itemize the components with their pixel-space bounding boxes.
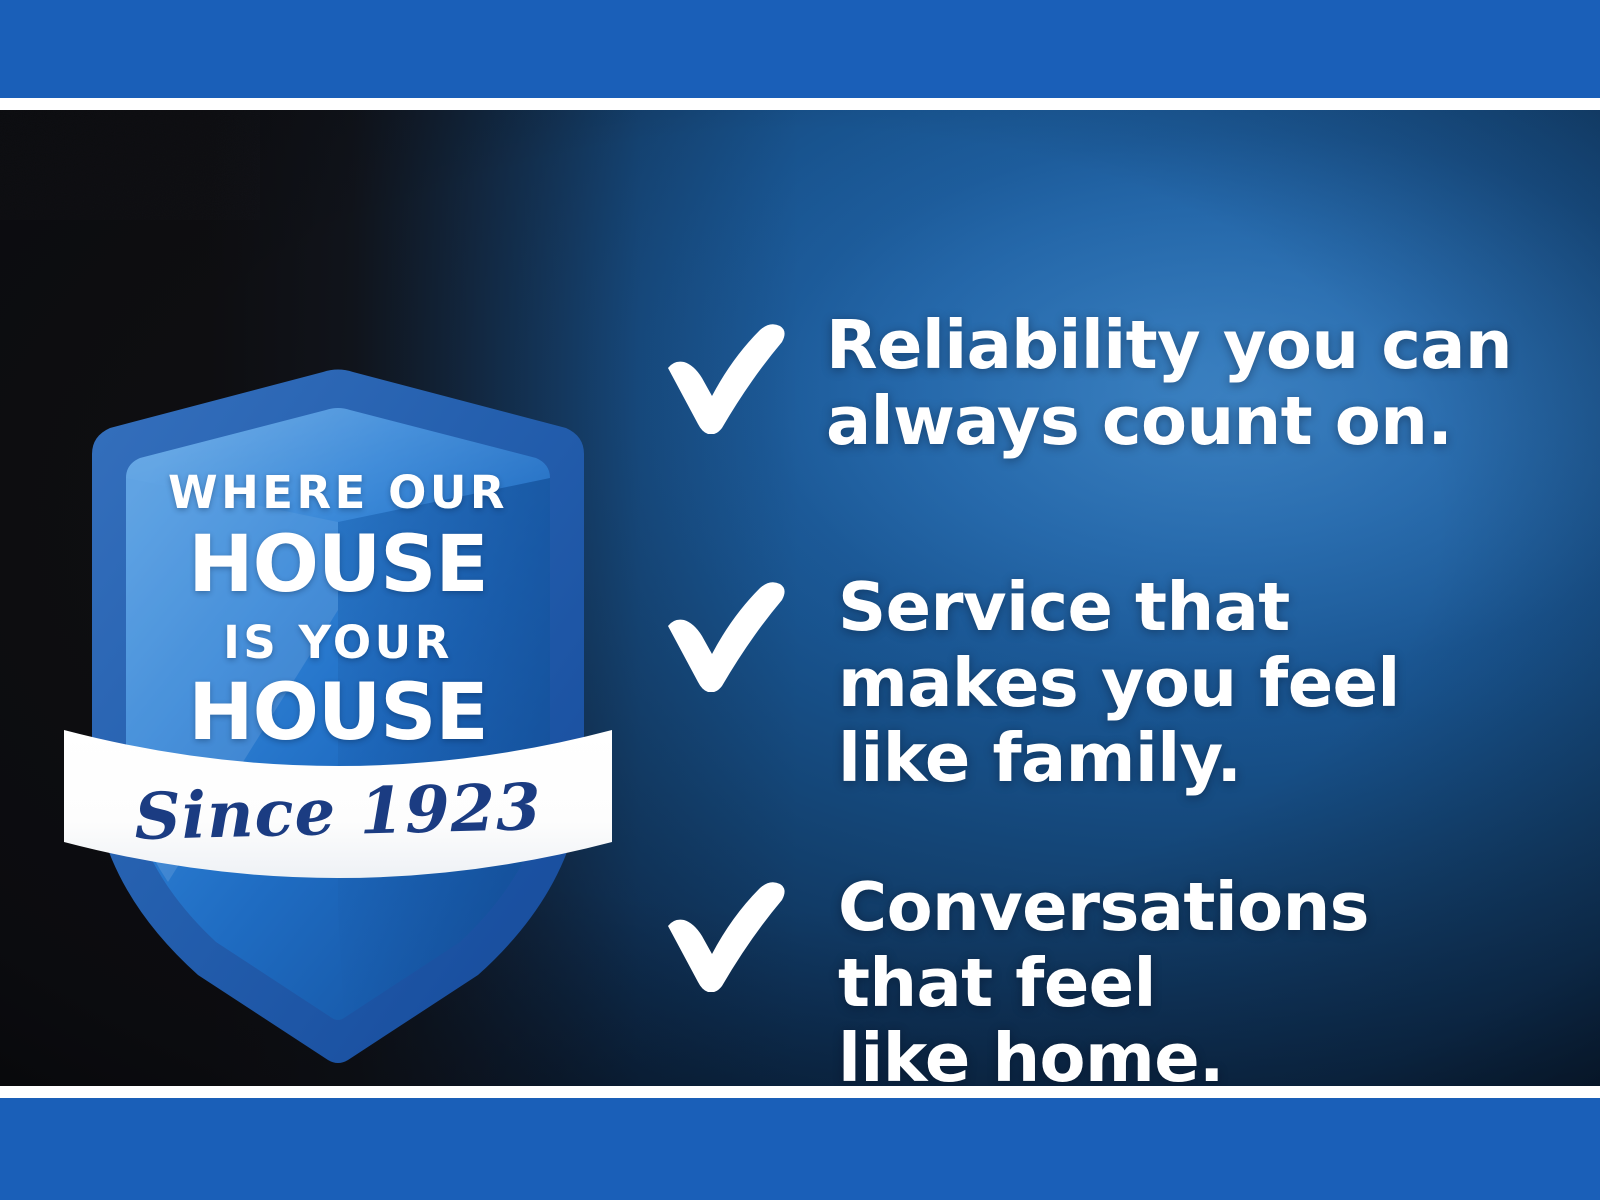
benefits-checklist: Reliability you can always count on. Ser… bbox=[660, 220, 1600, 1086]
shield-badge: WHERE OUR HOUSE IS YOUR HOUSE Since 1923 bbox=[48, 350, 628, 1070]
checklist-item: Reliability you can always count on. bbox=[660, 312, 1512, 459]
checklist-item: Service that makes you feel like family. bbox=[660, 570, 1400, 797]
checkmark-icon bbox=[660, 316, 792, 434]
checkmark-icon bbox=[660, 874, 792, 992]
checkmark-icon bbox=[660, 574, 792, 692]
checklist-item-text: Service that makes you feel like family. bbox=[838, 570, 1400, 797]
top-accent-bar bbox=[0, 0, 1600, 98]
checklist-item-text: Reliability you can always count on. bbox=[826, 308, 1512, 459]
promotional-graphic: WHERE OUR HOUSE IS YOUR HOUSE Since 1923… bbox=[0, 0, 1600, 1200]
checklist-item: Conversations that feel like home. bbox=[660, 870, 1369, 1086]
checklist-item-text: Conversations that feel like home. bbox=[838, 870, 1369, 1086]
grain-texture-overlay bbox=[0, 110, 260, 220]
bottom-accent-bar bbox=[0, 1098, 1600, 1200]
shield-shade-facet bbox=[338, 478, 550, 1018]
main-stage: WHERE OUR HOUSE IS YOUR HOUSE Since 1923… bbox=[0, 110, 1600, 1086]
